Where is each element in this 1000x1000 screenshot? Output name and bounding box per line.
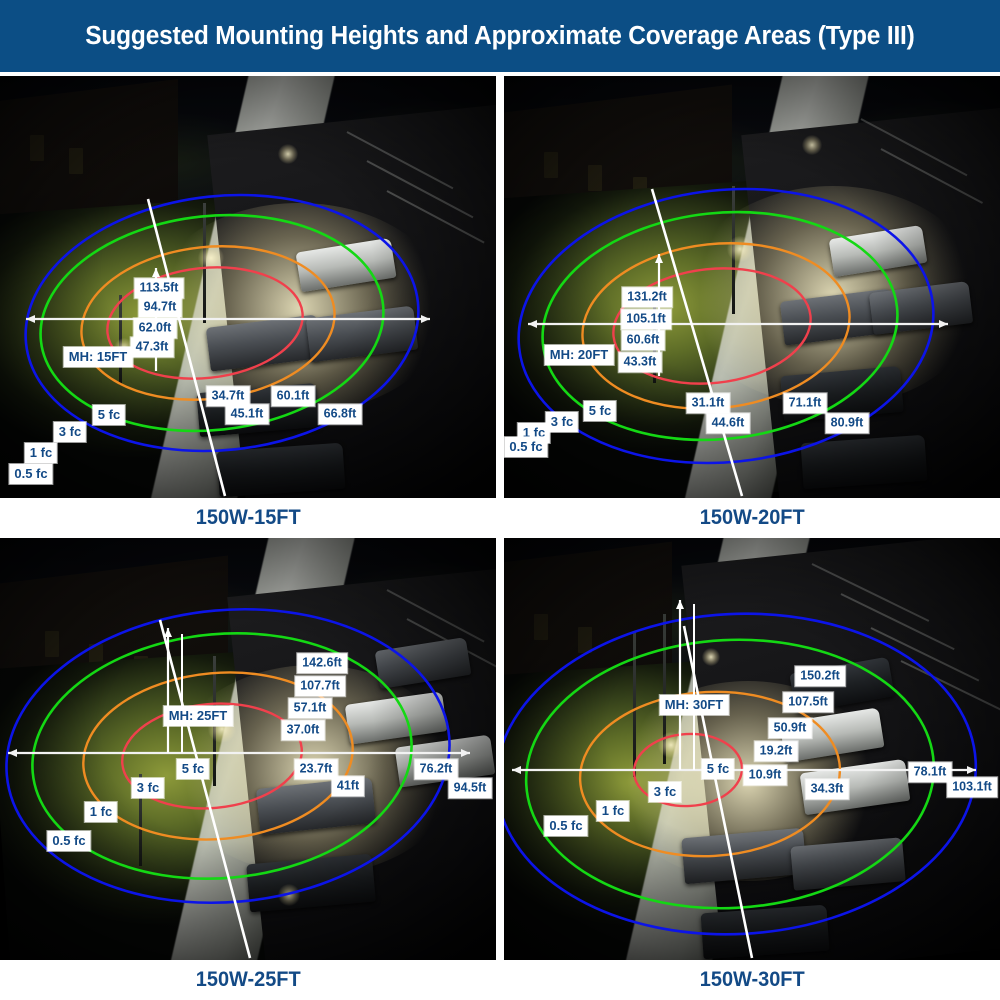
fc-label-1: 1 fc: [25, 443, 57, 463]
caption-text: 150W-15FT: [196, 506, 301, 530]
photo-panel-15ft: 113.5ft 94.7ft 62.0ft 47.3ft MH: 15FT 34…: [0, 76, 496, 498]
axis-vertical: [652, 189, 742, 496]
page-header: Suggested Mounting Heights and Approxima…: [0, 0, 1000, 72]
mounting-height-label: MH: 25FT: [164, 706, 233, 726]
photo-panel-20ft: 131.2ft 105.1ft 60.6ft 43.3ft MH: 20FT 3…: [504, 76, 1000, 498]
fc-label-3: 3 fc: [132, 778, 164, 798]
mounting-height-label: MH: 20FT: [545, 345, 614, 365]
panel-cell-15ft: 113.5ft 94.7ft 62.0ft 47.3ft MH: 15FT 34…: [0, 76, 496, 538]
caption-text: 150W-20FT: [700, 506, 805, 530]
fc-label-0_5: 0.5 fc: [47, 831, 90, 851]
fc-label-5: 5 fc: [93, 405, 125, 425]
contour-0_5fc: [505, 169, 947, 483]
axis-vertical: [160, 620, 250, 958]
distance-label-8: 80.9ft: [826, 413, 869, 433]
photo-panel-25ft: [0, 538, 496, 960]
fc-label-0_5: 0.5 fc: [9, 464, 52, 484]
panel-caption-30ft: 150W-30FT: [504, 960, 1000, 1000]
distance-label-3: 60.6ft: [622, 330, 665, 350]
distance-label-1: 142.6ft: [297, 653, 347, 673]
fc-label-3: 3 fc: [649, 782, 681, 802]
contour-overlay-20ft: [504, 76, 1000, 498]
distance-label-8: 94.5ft: [449, 778, 492, 798]
fc-label-0_5: 0.5 fc: [544, 816, 587, 836]
panel-caption-15ft: 150W-15FT: [0, 498, 496, 538]
caption-text: 150W-30FT: [700, 968, 805, 992]
mounting-height-label: MH: 15FT: [64, 347, 133, 367]
distance-label-2: 107.5ft: [783, 692, 833, 712]
distance-label-6: 34.3ft: [806, 779, 849, 799]
distance-label-2: 105.1ft: [621, 309, 671, 329]
distance-label-1: 150.2ft: [795, 666, 845, 686]
panel-caption-20ft: 150W-20FT: [504, 498, 1000, 538]
distance-label-4: 47.3ft: [131, 337, 174, 357]
distance-label-7: 76.2ft: [415, 759, 458, 779]
coverage-diagram-page: Suggested Mounting Heights and Approxima…: [0, 0, 1000, 1000]
photo-panel-30ft: [504, 538, 1000, 960]
distance-label-3: 50.9ft: [769, 718, 812, 738]
distance-label-7: 60.1ft: [272, 386, 315, 406]
contour-0_5fc: [0, 591, 462, 921]
fc-label-1: 1 fc: [85, 802, 117, 822]
caption-text: 150W-25FT: [196, 968, 301, 992]
fc-label-3: 3 fc: [54, 422, 86, 442]
distance-label-6: 41ft: [332, 776, 364, 796]
distance-label-4: 43.3ft: [619, 352, 662, 372]
distance-label-7: 71.1ft: [784, 393, 827, 413]
fc-label-5: 5 fc: [702, 759, 734, 779]
fc-label-5: 5 fc: [584, 401, 616, 421]
fc-label-0_5: 0.5 fc: [504, 437, 547, 457]
distance-label-5: 34.7ft: [207, 386, 250, 406]
distance-label-8: 66.8ft: [319, 404, 362, 424]
fc-label-3: 3 fc: [546, 412, 578, 432]
fc-label-1: 1 fc: [597, 801, 629, 821]
distance-label-3: 62.0ft: [134, 318, 177, 338]
distance-label-6: 45.1ft: [226, 404, 269, 424]
mounting-height-label: MH: 30FT: [660, 695, 729, 715]
fc-label-5: 5 fc: [177, 759, 209, 779]
distance-label-2: 94.7ft: [139, 297, 182, 317]
distance-label-3: 57.1ft: [289, 698, 332, 718]
distance-label-6: 44.6ft: [707, 413, 750, 433]
distance-label-1: 113.5ft: [135, 278, 184, 298]
panel-grid: 113.5ft 94.7ft 62.0ft 47.3ft MH: 15FT 34…: [0, 76, 1000, 1000]
contour-overlay-30ft: [504, 538, 1000, 960]
page-title: Suggested Mounting Heights and Approxima…: [85, 22, 914, 51]
distance-label-2: 107.7ft: [295, 676, 345, 696]
distance-label-1: 131.2ft: [622, 287, 672, 307]
distance-label-5: 10.9ft: [744, 765, 787, 785]
distance-label-8: 103.1ft: [947, 777, 997, 797]
distance-label-7: 78.1ft: [909, 762, 952, 782]
distance-label-4: 19.2ft: [755, 741, 798, 761]
panel-caption-25ft: 150W-25FT: [0, 960, 496, 1000]
distance-label-5: 31.1ft: [687, 393, 730, 413]
distance-label-4: 37.0ft: [282, 720, 325, 740]
contour-overlay-25ft: [0, 538, 496, 960]
panel-cell-20ft: 131.2ft 105.1ft 60.6ft 43.3ft MH: 20FT 3…: [504, 76, 1000, 538]
